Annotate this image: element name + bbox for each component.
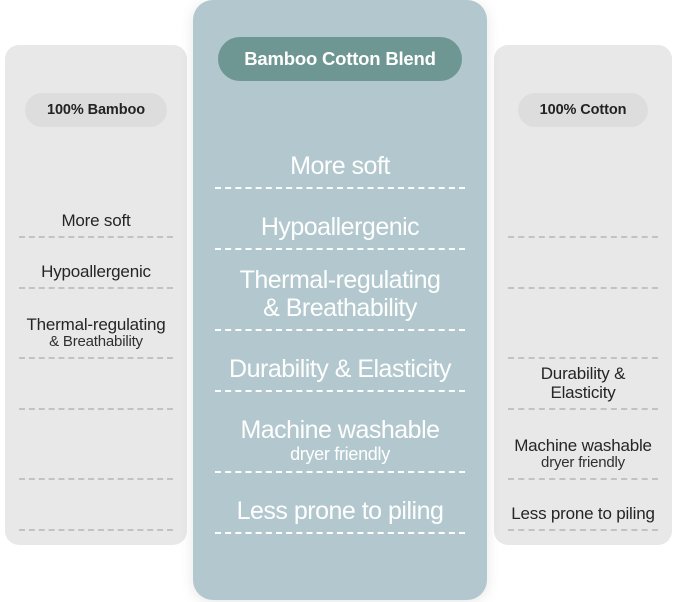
feature-list-cotton: Durability & Elasticity Machine washable… [494, 187, 672, 531]
comparison-column-cotton: 100% Cotton Durability & Elasticity Mach… [494, 45, 672, 545]
feature-label: Thermal-regulating [26, 315, 165, 334]
feature-row: Hypoallergenic [215, 189, 465, 250]
feature-label-cont: & Breathability [263, 294, 417, 322]
column-header-bamboo: 100% Bamboo [5, 93, 187, 127]
feature-label: Hypoallergenic [41, 262, 151, 281]
feature-list-bamboo: More soft Hypoallergenic Thermal-regulat… [5, 187, 187, 531]
feature-row: Less prone to piling [508, 480, 658, 531]
feature-row: More soft [215, 128, 465, 189]
column-header-label: 100% Bamboo [25, 93, 167, 127]
feature-sublabel: dryer friendly [541, 455, 625, 472]
feature-row: Durability & Elasticity [215, 331, 465, 392]
feature-row: Machine washable dryer friendly [215, 392, 465, 473]
feature-row-empty [19, 359, 173, 410]
comparison-infographic: 100% Bamboo More soft Hypoallergenic The… [0, 0, 679, 602]
feature-label: More soft [61, 211, 130, 230]
feature-row: Thermal-regulating & Breathability [19, 289, 173, 359]
feature-row: Less prone to piling [215, 473, 465, 534]
feature-row: Machine washable dryer friendly [508, 410, 658, 480]
feature-label: More soft [290, 152, 390, 180]
feature-row: Hypoallergenic [19, 238, 173, 289]
feature-label-cont: Elasticity [550, 383, 615, 402]
feature-sublabel: & Breathability [49, 334, 143, 351]
column-header-label: 100% Cotton [518, 93, 649, 127]
feature-row: More soft [19, 187, 173, 238]
feature-row-empty [508, 289, 658, 359]
feature-label: Less prone to piling [237, 497, 444, 525]
feature-label: Hypoallergenic [261, 213, 419, 241]
feature-label: Durability & Elasticity [229, 355, 451, 383]
feature-row-empty [508, 238, 658, 289]
comparison-column-blend-featured: Bamboo Cotton Blend More soft Hypoallerg… [193, 0, 487, 600]
column-header-blend: Bamboo Cotton Blend [193, 37, 487, 81]
feature-row-empty [19, 410, 173, 480]
feature-row: Thermal-regulating & Breathability [215, 250, 465, 331]
column-header-label: Bamboo Cotton Blend [218, 37, 461, 81]
feature-label: Thermal-regulating [240, 266, 441, 294]
feature-row-empty [19, 480, 173, 531]
comparison-column-bamboo: 100% Bamboo More soft Hypoallergenic The… [5, 45, 187, 545]
feature-sublabel: dryer friendly [290, 444, 390, 464]
feature-row-empty [508, 187, 658, 238]
feature-row: Durability & Elasticity [508, 359, 658, 410]
feature-list-blend: More soft Hypoallergenic Thermal-regulat… [193, 128, 487, 534]
feature-label: Machine washable [514, 436, 652, 455]
column-header-cotton: 100% Cotton [494, 93, 672, 127]
feature-label: Machine washable [240, 416, 439, 444]
feature-label: Durability & [541, 364, 626, 383]
feature-label: Less prone to piling [511, 504, 654, 523]
